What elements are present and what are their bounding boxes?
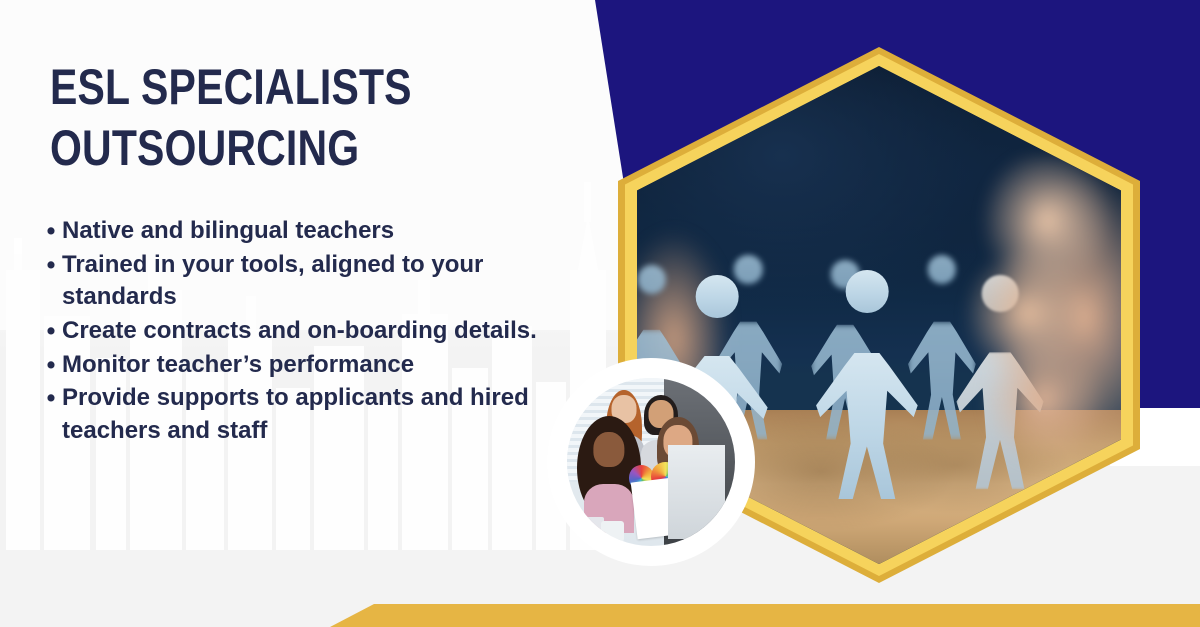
page-title: ESL Specialists Outsourcing bbox=[50, 57, 476, 179]
bullet-marker-icon: • bbox=[40, 315, 62, 348]
list-item-label: Monitor teacher’s performance bbox=[62, 349, 570, 382]
bullet-marker-icon: • bbox=[40, 215, 62, 248]
esl-specialists-banner: ESL Specialists Outsourcing • Native and… bbox=[0, 0, 1200, 627]
list-item-label: Native and bilingual teachers bbox=[62, 215, 570, 248]
bullet-marker-icon: • bbox=[40, 349, 62, 382]
list-item: • Trained in your tools, aligned to your… bbox=[40, 249, 570, 314]
bullet-marker-icon: • bbox=[40, 382, 62, 415]
list-item: • Monitor teacher’s performance bbox=[40, 349, 570, 382]
list-item-label: Create contracts and on-boarding details… bbox=[62, 315, 570, 348]
title-line-2: Outsourcing bbox=[50, 118, 476, 179]
list-item: • Native and bilingual teachers bbox=[40, 215, 570, 248]
list-item-label: Provide supports to applicants and hired… bbox=[62, 382, 570, 447]
text-column: ESL Specialists Outsourcing • Native and… bbox=[0, 0, 600, 627]
bullet-marker-icon: • bbox=[40, 249, 62, 282]
list-item-label: Trained in your tools, aligned to your s… bbox=[62, 249, 570, 314]
list-item: • Provide supports to applicants and hir… bbox=[40, 382, 570, 447]
feature-bullet-list: • Native and bilingual teachers • Traine… bbox=[40, 215, 570, 448]
title-line-1: ESL Specialists bbox=[50, 57, 476, 118]
list-item: • Create contracts and on-boarding detai… bbox=[40, 315, 570, 348]
